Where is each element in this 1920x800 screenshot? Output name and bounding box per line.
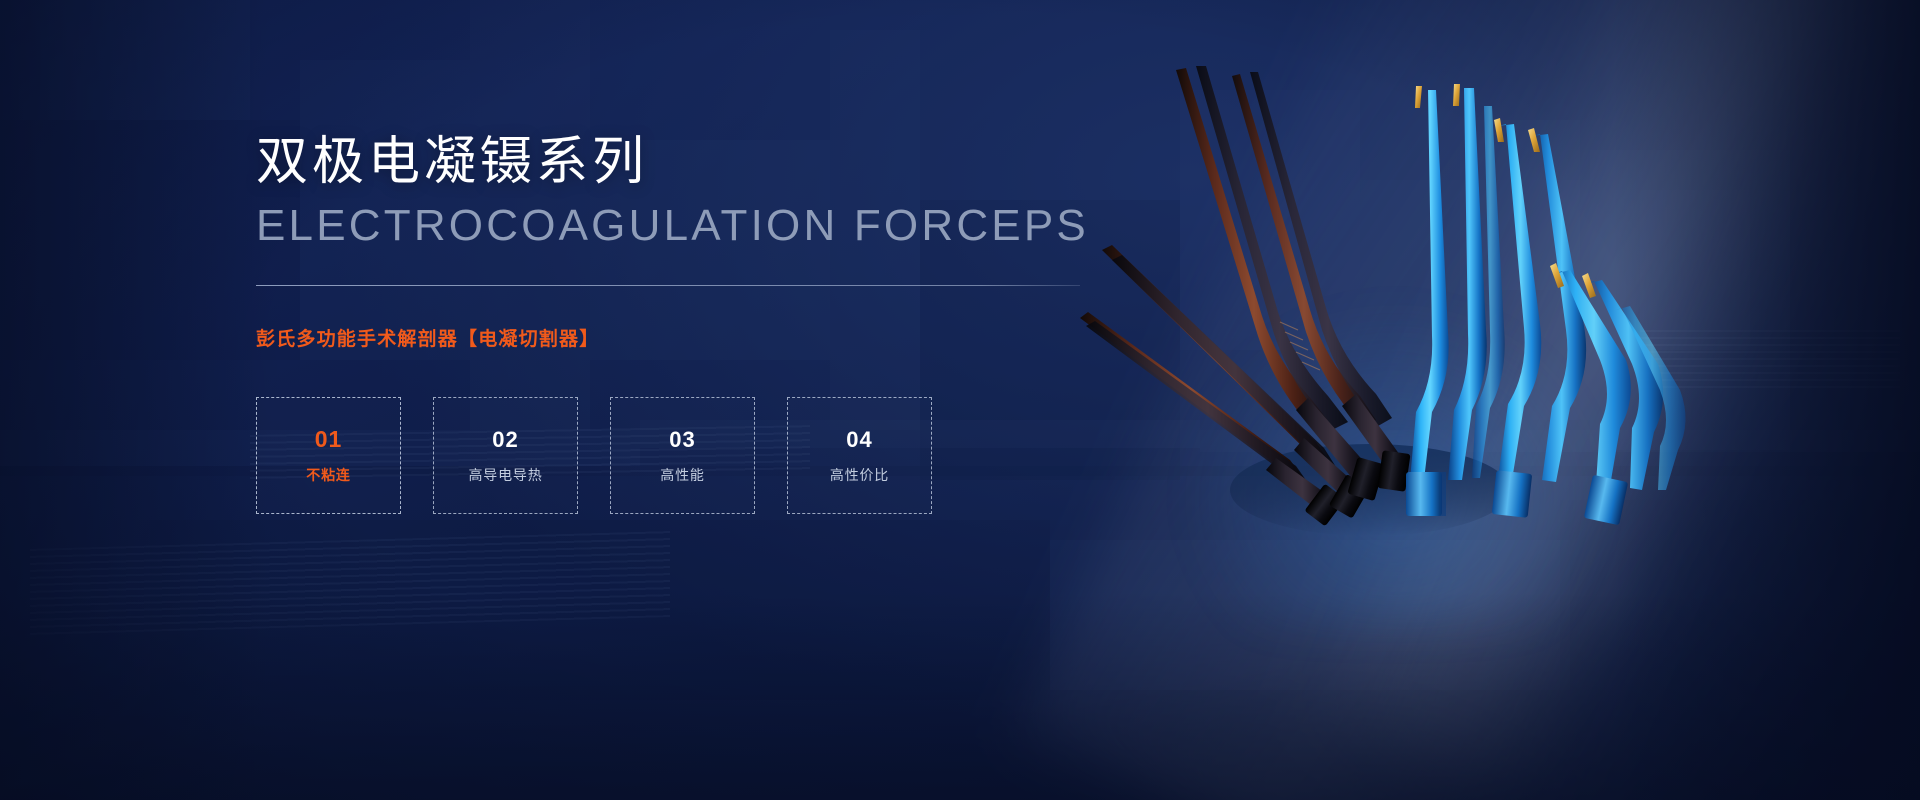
feature-card-01[interactable]: 01 不粘连 (256, 397, 401, 514)
feature-list: 01 不粘连 02 高导电导热 03 高性能 04 高性价比 (256, 397, 1106, 514)
background-louvre-stripes-left (30, 531, 670, 635)
electrocoagulation-forceps-image (1080, 60, 1640, 620)
feature-number-03: 03 (669, 429, 695, 451)
background-louvre-stripes-right (1640, 330, 1900, 390)
feature-label-03: 高性能 (660, 468, 704, 482)
title-divider (256, 285, 1080, 286)
product-banner: 双极电凝镊系列 ELECTROCOAGULATION FORCEPS 彭氏多功能… (0, 0, 1920, 800)
forceps-bronze-4 (1232, 72, 1411, 492)
light-beam-secondary (1294, 0, 1920, 800)
forceps-glow (1180, 300, 1610, 630)
forceps-bronze-2 (1102, 245, 1370, 519)
feature-label-02: 高导电导热 (469, 468, 543, 482)
forceps-blue-3 (1550, 263, 1663, 525)
feature-label-01: 不粘连 (306, 468, 350, 482)
light-beam-primary (1013, 0, 1920, 800)
banner-content: 双极电凝镊系列 ELECTROCOAGULATION FORCEPS 彭氏多功能… (256, 132, 1106, 514)
feature-card-02[interactable]: 02 高导电导热 (433, 397, 578, 514)
feature-number-02: 02 (492, 429, 518, 451)
feature-number-01: 01 (315, 428, 343, 451)
feature-card-04[interactable]: 04 高性价比 (787, 397, 932, 514)
feature-label-04: 高性价比 (830, 468, 889, 482)
feature-card-03[interactable]: 03 高性能 (610, 397, 755, 514)
page-title-chinese: 双极电凝镊系列 (256, 132, 1106, 193)
forceps-bronze-3 (1176, 66, 1385, 501)
forceps-bronze-1 (1080, 312, 1346, 526)
product-subtitle: 彭氏多功能手术解剖器【电凝切割器】 (256, 324, 1106, 351)
page-title-english: ELECTROCOAGULATION FORCEPS (256, 201, 1106, 250)
feature-number-04: 04 (846, 429, 872, 451)
forceps-blue-accents (1472, 106, 1686, 490)
forceps-blue-2 (1492, 118, 1586, 518)
forceps-blue-1 (1406, 84, 1487, 516)
